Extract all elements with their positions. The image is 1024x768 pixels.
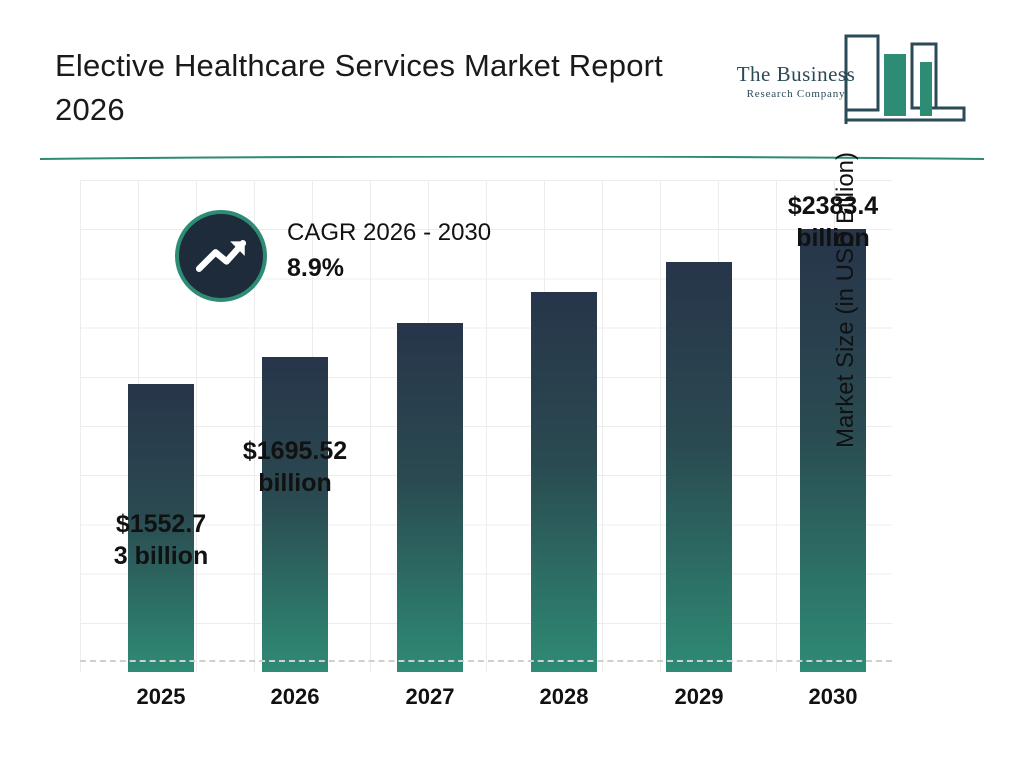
bar-2028 — [531, 292, 597, 672]
bar-2026 — [262, 357, 328, 672]
cagr-value-label: 8.9% — [287, 250, 587, 286]
bar-2029 — [666, 262, 732, 672]
x-tick-2028: 2028 — [504, 684, 624, 710]
x-tick-2030: 2030 — [773, 684, 893, 710]
bar-label-2026-line1: $1695.52 — [220, 435, 370, 467]
cagr-badge: CAGR 2026 - 2030 8.9% — [175, 210, 575, 314]
cagr-circle — [175, 210, 267, 302]
bar-2027 — [397, 323, 463, 672]
bar-label-2026-line2: billion — [220, 467, 370, 499]
plot-area: $1552.7 3 billion $1695.52 billion $2383… — [80, 180, 892, 672]
y-axis-label: Market Size (in USD Billion) — [832, 130, 860, 470]
page-title: Elective Healthcare Services Market Repo… — [55, 44, 675, 132]
x-tick-2025: 2025 — [101, 684, 221, 710]
bar-label-2025-line2: 3 billion — [86, 540, 236, 572]
x-tick-2029: 2029 — [639, 684, 759, 710]
header: Elective Healthcare Services Market Repo… — [0, 0, 1024, 160]
cagr-period-label: CAGR 2026 - 2030 — [287, 216, 587, 250]
trend-up-arrow-icon — [179, 214, 263, 298]
bar-label-2025: $1552.7 3 billion — [86, 508, 236, 572]
logo-text: The Business Research Company — [720, 62, 872, 100]
axis-baseline — [80, 660, 892, 662]
bar-label-2025-line1: $1552.7 — [86, 508, 236, 540]
company-logo: The Business Research Company — [718, 32, 968, 124]
logo-line-1: The Business — [720, 62, 872, 87]
bar-label-2026: $1695.52 billion — [220, 435, 370, 499]
x-tick-2026: 2026 — [235, 684, 355, 710]
cagr-text: CAGR 2026 - 2030 8.9% — [287, 216, 587, 286]
logo-line-2: Research Company — [720, 88, 872, 100]
market-size-bar-chart: $1552.7 3 billion $1695.52 billion $2383… — [0, 168, 1024, 768]
x-tick-2027: 2027 — [370, 684, 490, 710]
